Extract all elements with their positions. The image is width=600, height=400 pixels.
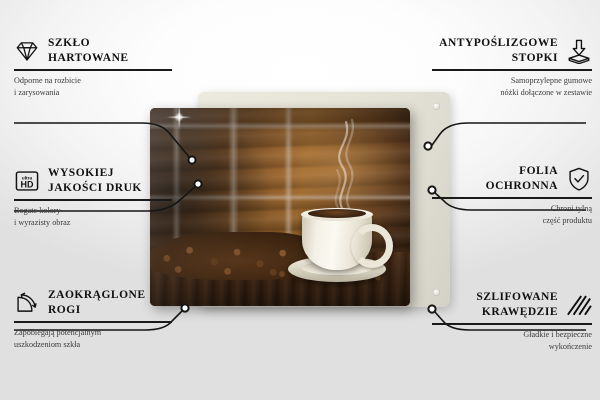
feature-desc-line1: Gładkie i bezpieczne xyxy=(422,329,592,341)
feature-desc-line2: część produktu xyxy=(422,215,592,227)
shield-check-icon xyxy=(566,166,592,192)
feature-polished-edges: SZLIFOWANE KRAWĘDZIE Gładkie i bezpieczn… xyxy=(422,290,592,352)
feature-title-line1: SZKŁO xyxy=(48,36,129,51)
glass-board-printed-face xyxy=(150,108,410,306)
infographic-canvas: SZKŁO HARTOWANE Odporne na rozbicie i za… xyxy=(0,0,600,400)
feature-title-line1: WYSOKIEJ xyxy=(48,166,142,181)
feature-title-line2: JAKOŚCI DRUK xyxy=(48,181,142,196)
feature-desc-line1: Chroni tylną xyxy=(422,203,592,215)
diagonal-stripes-icon xyxy=(566,292,592,318)
feature-anti-slip-feet: ANTYPOŚLIZGOWE STOPKI Samoprzylepne gumo… xyxy=(422,36,592,98)
feature-title-line2: KRAWĘDZIE xyxy=(476,305,558,320)
feature-title-line2: ROGI xyxy=(48,303,146,318)
feature-protective-film: FOLIA OCHRONNA Chroni tylną część produk… xyxy=(422,164,592,226)
feature-title-line1: FOLIA xyxy=(486,164,558,179)
feature-desc-line1: Odporne na rozbicie xyxy=(14,75,184,87)
diamond-icon xyxy=(14,38,40,64)
feature-high-quality-print: ultra HD WYSOKIEJ JAKOŚCI DRUK Bogate ko… xyxy=(14,166,184,228)
feature-title-line1: ANTYPOŚLIZGOWE xyxy=(439,36,558,51)
ultra-hd-large-text: HD xyxy=(21,180,34,190)
product-image xyxy=(150,92,450,314)
feature-desc-line2: nóżki dołączone w zestawie xyxy=(422,87,592,99)
feature-divider xyxy=(432,323,592,324)
feature-desc-line2: wykończenie xyxy=(422,341,592,353)
feature-divider xyxy=(14,321,172,322)
glass-reflection-sheen xyxy=(150,108,410,306)
feature-title-line2: STOPKI xyxy=(439,51,558,66)
feature-desc-line1: Zapobiegają potencjalnym xyxy=(14,327,184,339)
feature-divider xyxy=(432,69,592,70)
feature-desc-line1: Samoprzylepne gumowe xyxy=(422,75,592,87)
press-down-pad-icon xyxy=(566,38,592,64)
feature-title-line2: HARTOWANE xyxy=(48,51,129,66)
feature-title-line1: ZAOKRĄGLONE xyxy=(48,288,146,303)
anti-slip-foot-top-right xyxy=(433,103,440,110)
connector-line-anti-slip xyxy=(430,123,586,148)
printed-scene xyxy=(150,108,410,306)
feature-desc-line2: uszkodzeniom szkła xyxy=(14,339,184,351)
feature-tempered-glass: SZKŁO HARTOWANE Odporne na rozbicie i za… xyxy=(14,36,184,98)
feature-title-line1: SZLIFOWANE xyxy=(476,290,558,305)
feature-divider xyxy=(14,69,172,70)
feature-desc-line2: i zarysowania xyxy=(14,87,184,99)
feature-desc-line2: i wyrazisty obraz xyxy=(14,217,184,229)
feature-rounded-corners: ZAOKRĄGLONE ROGI Zapobiegają potencjalny… xyxy=(14,288,184,350)
glass-sparkle-icon xyxy=(166,108,192,130)
feature-divider xyxy=(14,199,172,200)
feature-desc-line1: Bogate kolory xyxy=(14,205,184,217)
rounded-corner-icon xyxy=(14,290,40,316)
feature-divider xyxy=(432,197,592,198)
ultra-hd-badge-icon: ultra HD xyxy=(14,168,40,194)
feature-title-line2: OCHRONNA xyxy=(486,179,558,194)
